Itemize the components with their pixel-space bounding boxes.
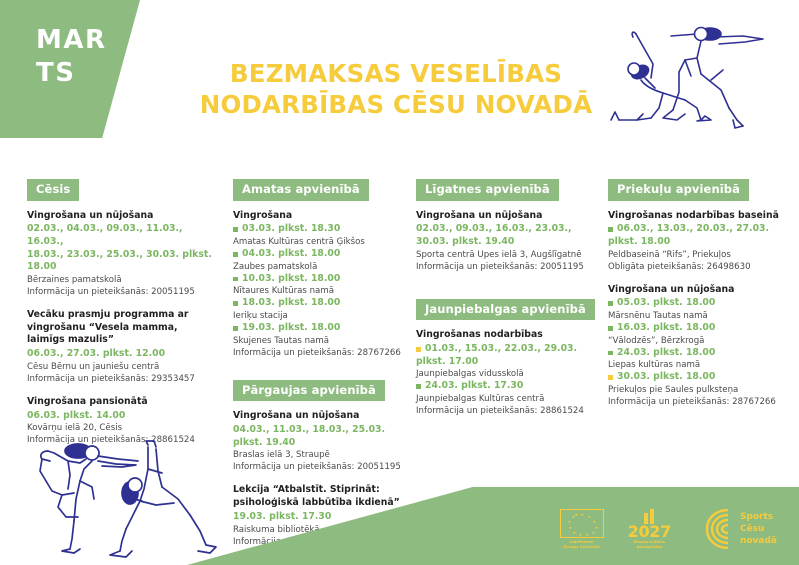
column-priekulu: Priekuļu apvienībā Vingrošanas nodarbība… bbox=[608, 178, 794, 408]
eu-caption-line1: Līdzfinansē bbox=[570, 540, 593, 544]
event-block: Vingrošana 03.03. plkst. 18.30 Amatas Ku… bbox=[233, 210, 419, 359]
event-date: 05.03. plkst. 18.00 bbox=[608, 297, 794, 310]
event-date: 02.03., 09.03., 16.03., 23.03., bbox=[416, 223, 606, 236]
event-date: 24.03. plkst. 18.00 bbox=[608, 347, 794, 360]
event-date: 19.03. plkst. 17.30 bbox=[233, 511, 419, 524]
event-title: Lekcija “Atbalstīt. Stiprināt: psiholoģi… bbox=[233, 484, 419, 509]
year-caption-line1: Eiropas kultūras bbox=[634, 540, 665, 544]
sports-line1: Sports bbox=[740, 511, 777, 523]
event-title: Vingrošana pansionātā bbox=[27, 396, 213, 409]
poster-canvas: MAR TS BEZMAKSAS VESELĪBAS NODARBĪBAS CĒ… bbox=[0, 0, 799, 565]
eu-caption-line2: Eiropas Savienība bbox=[564, 545, 600, 549]
yoga-warrior-pose-illustration bbox=[593, 8, 793, 140]
event-date: 01.03., 15.03., 22.03., 29.03. bbox=[416, 343, 606, 356]
eu-cofunding-logo: ★ ★ ★ ★ ★ ★ ★ ★ ★ ★ ★ ★ Līdzfinansē Eiro… bbox=[560, 509, 604, 549]
event-contact[interactable]: Informācija un pieteikšanās: 20051195 bbox=[416, 261, 606, 273]
event-place: Peldbaseinā “Rifs”, Priekuļos bbox=[608, 249, 794, 261]
event-date: 10.03. plkst. 18.00 bbox=[233, 273, 419, 286]
event-place: Jaunpiebalgas vidusskolā bbox=[416, 368, 606, 380]
event-contact[interactable]: Informācija: 26363595 bbox=[233, 536, 419, 548]
column-amatas-pargaujas: Amatas apvienībā Vingrošana 03.03. plkst… bbox=[233, 178, 419, 548]
event-title: Vingrošana un nūjošana bbox=[416, 210, 606, 223]
event-place: Bērzaines pamatskolā bbox=[27, 274, 213, 286]
page-title: BEZMAKSAS VESELĪBAS NODARBĪBAS CĒSU NOVA… bbox=[196, 58, 596, 121]
year-2027-label: 2027 bbox=[628, 524, 671, 541]
event-date: 04.03., 11.03., 18.03., 25.03. bbox=[233, 424, 419, 437]
event-date: 30.03. plkst. 18.00 bbox=[608, 371, 794, 384]
event-block: Vingrošana un nūjošana 02.03., 09.03., 1… bbox=[416, 210, 606, 273]
eu-flag-icon: ★ ★ ★ ★ ★ ★ ★ ★ ★ ★ ★ ★ bbox=[560, 509, 604, 538]
event-date: 06.03., 27.03. plkst. 12.00 bbox=[27, 348, 213, 361]
month-label: MAR TS bbox=[36, 24, 106, 91]
event-place: Nītaures Kultūras namā bbox=[233, 285, 419, 297]
region-header-amatas: Amatas apvienībā bbox=[233, 179, 369, 201]
event-place: Cēsu Bērnu un jauniešu centrā bbox=[27, 361, 213, 373]
sports-cesu-novada-logo: Sports Cēsu novadā bbox=[695, 509, 777, 549]
region-header-priekulu: Priekuļu apvienībā bbox=[608, 179, 749, 201]
event-date: 19.03. plkst. 18.00 bbox=[233, 322, 419, 335]
event-block: Vecāku prasmju programma ar vingrošanu “… bbox=[27, 309, 213, 385]
event-date: 03.03. plkst. 18.30 bbox=[233, 223, 419, 236]
event-contact[interactable]: Informācija un pieteikšanās: 29353457 bbox=[27, 373, 213, 385]
event-block: Vingrošana un nūjošana 02.03., 04.03., 0… bbox=[27, 210, 213, 298]
event-date: 04.03. plkst. 18.00 bbox=[233, 248, 419, 261]
event-block: Vingrošanas nodarbības 01.03., 15.03., 2… bbox=[416, 329, 606, 417]
event-date: 18.03., 23.03., 25.03., 30.03. plkst. 18… bbox=[27, 249, 213, 274]
year-caption-line2: galvaspilsēta bbox=[637, 545, 662, 549]
sports-line2: Cēsu bbox=[740, 523, 777, 535]
event-contact[interactable]: Informācija un pieteikšanās: 28767266 bbox=[608, 396, 794, 408]
event-date: 30.03. plkst. 19.40 bbox=[416, 236, 606, 249]
event-date: 16.03. plkst. 18.00 bbox=[608, 322, 794, 335]
event-place: Jaunpiebalgas Kultūras centrā bbox=[416, 393, 606, 405]
event-title: Vingrošanas nodarbības baseinā bbox=[608, 210, 794, 223]
yoga-dancer-triangle-pose-illustration bbox=[22, 437, 254, 563]
event-title: Vingrošana un nūjošana bbox=[608, 284, 794, 297]
year-caption: Eiropas kultūras galvaspilsēta bbox=[634, 540, 665, 549]
event-date: 06.03. plkst. 14.00 bbox=[27, 410, 213, 423]
event-date: plkst. 17.00 bbox=[416, 356, 606, 369]
event-contact[interactable]: Informācija un pieteikšanās: 20051195 bbox=[27, 286, 213, 298]
event-place: Skujenes Tautas namā bbox=[233, 335, 419, 347]
event-title: Vingrošana bbox=[233, 210, 419, 223]
event-block: Lekcija “Atbalstīt. Stiprināt: psiholoģi… bbox=[233, 484, 419, 547]
cesis-2027-logo: 2027 Eiropas kultūras galvaspilsēta bbox=[628, 509, 671, 550]
column-cesis: Cēsis Vingrošana un nūjošana 02.03., 04.… bbox=[27, 178, 213, 446]
sports-c-mark-icon bbox=[695, 509, 733, 549]
event-place: Zaubes pamatskolā bbox=[233, 261, 419, 273]
event-date: 02.03., 04.03., 09.03., 11.03., 16.03., bbox=[27, 223, 213, 248]
page-title-line1: BEZMAKSAS VESELĪBAS bbox=[230, 59, 562, 88]
region-header-jaunpiebalgas: Jaunpiebalgas apvienībā bbox=[416, 299, 595, 321]
event-place: Liepas kultūras namā bbox=[608, 359, 794, 371]
event-place: Mārsnēnu Tautas namā bbox=[608, 310, 794, 322]
event-contact[interactable]: Informācija un pieteikšanās: 28767266 bbox=[233, 347, 419, 359]
event-date: plkst. 18.00 bbox=[608, 236, 794, 249]
event-place: Ieriķu stacija bbox=[233, 310, 419, 322]
sports-line3: novadā bbox=[740, 535, 777, 547]
month-tag-shape: MAR TS bbox=[0, 0, 140, 138]
event-date: 06.03., 13.03., 20.03., 27.03. bbox=[608, 223, 794, 236]
event-place: Braslas ielā 3, Straupē bbox=[233, 449, 419, 461]
region-header-ligatnes: Līgatnes apvienībā bbox=[416, 179, 559, 201]
event-block: Vingrošanas nodarbības baseinā 06.03., 1… bbox=[608, 210, 794, 273]
page-title-line2: NODARBĪBAS CĒSU NOVADĀ bbox=[196, 89, 596, 120]
region-header-pargaujas: Pārgaujas apvienībā bbox=[233, 380, 385, 402]
event-place: Amatas Kultūras centrā Ģikšos bbox=[233, 236, 419, 248]
event-block: Vingrošana un nūjošana 04.03., 11.03., 1… bbox=[233, 410, 419, 473]
event-place: “Vālodzēs”, Bērzkrogā bbox=[608, 335, 794, 347]
event-title: Vingrošana un nūjošana bbox=[27, 210, 213, 223]
event-title: Vecāku prasmju programma ar vingrošanu “… bbox=[27, 309, 213, 347]
event-place: Kovārņu ielā 20, Cēsis bbox=[27, 422, 213, 434]
sports-text: Sports Cēsu novadā bbox=[740, 511, 777, 547]
region-header-cesis: Cēsis bbox=[27, 179, 79, 201]
event-place: Priekuļos pie Saules pulksteņa bbox=[608, 384, 794, 396]
event-contact[interactable]: Informācija un pieteikšanās: 28861524 bbox=[416, 405, 606, 417]
eu-caption: Līdzfinansē Eiropas Savienība bbox=[564, 540, 600, 549]
event-title: Vingrošana un nūjošana bbox=[233, 410, 419, 423]
event-date: 18.03. plkst. 18.00 bbox=[233, 297, 419, 310]
event-place: Raiskuma bibliotēkā bbox=[233, 524, 419, 536]
footer-logo-row: ★ ★ ★ ★ ★ ★ ★ ★ ★ ★ ★ ★ Līdzfinansē Eiro… bbox=[560, 505, 777, 553]
event-title: Vingrošanas nodarbības bbox=[416, 329, 606, 342]
event-contact[interactable]: Informācija un pieteikšanās: 20051195 bbox=[233, 461, 419, 473]
event-contact[interactable]: Obligāta pieteikšanās: 26498630 bbox=[608, 261, 794, 273]
event-date: plkst. 19.40 bbox=[233, 437, 419, 450]
event-block: Vingrošana un nūjošana 05.03. plkst. 18.… bbox=[608, 284, 794, 408]
event-place: Sporta centrā Upes ielā 3, Augšlīgatnē bbox=[416, 249, 606, 261]
event-date: 24.03. plkst. 17.30 bbox=[416, 380, 606, 393]
column-ligatnes-jaunpiebalgas: Līgatnes apvienībā Vingrošana un nūjošan… bbox=[416, 178, 606, 417]
